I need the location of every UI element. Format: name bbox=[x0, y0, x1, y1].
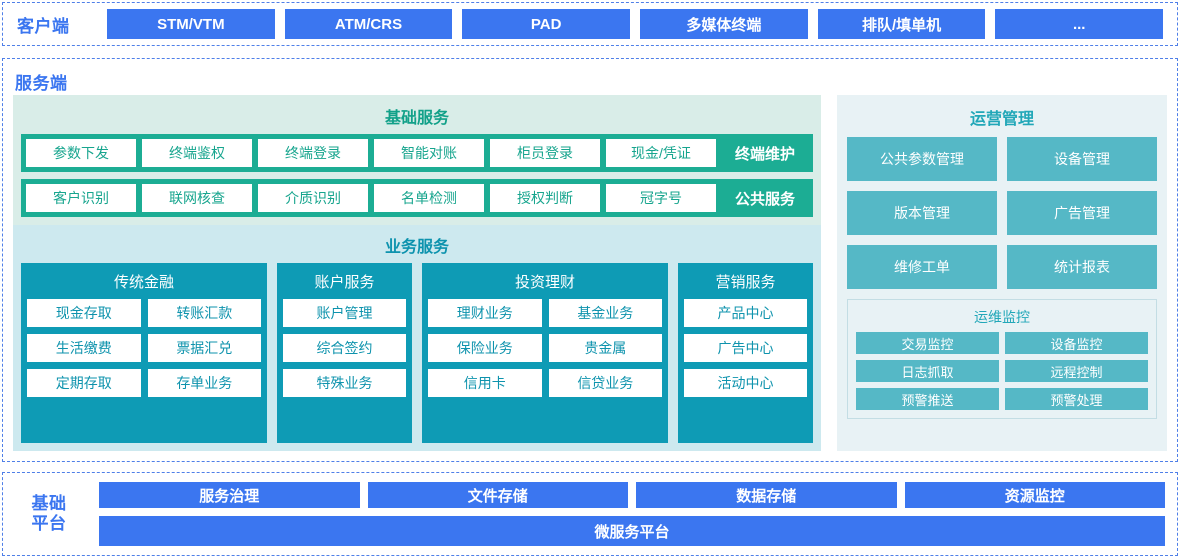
operations-monitoring-title: 运维监控 bbox=[856, 305, 1148, 332]
ops-chip-statistical-report[interactable]: 统计报表 bbox=[1007, 245, 1157, 289]
platform-items-row: 服务治理 文件存储 数据存储 资源监控 bbox=[99, 482, 1165, 508]
ops-chip-public-parameter-management[interactable]: 公共参数管理 bbox=[847, 137, 997, 181]
server-section-title: 服务端 bbox=[15, 69, 68, 94]
biz-chip-special-business[interactable]: 特殊业务 bbox=[283, 369, 406, 397]
business-column-account-services: 账户服务 账户管理 综合签约 特殊业务 bbox=[277, 263, 412, 443]
platform-item-data-storage[interactable]: 数据存储 bbox=[636, 482, 897, 508]
basic-chip-customer-identification[interactable]: 客户识别 bbox=[26, 184, 136, 212]
client-item-multimedia-terminal[interactable]: 多媒体终端 bbox=[640, 9, 808, 39]
mon-chip-log-capture[interactable]: 日志抓取 bbox=[856, 360, 999, 382]
client-item-more[interactable]: ... bbox=[995, 9, 1163, 39]
business-services-panel: 业务服务 传统金融 现金存取 转账汇款 生活缴费 票据汇兑 定期存取 存单业务 bbox=[13, 225, 821, 451]
basic-chip-smart-reconciliation[interactable]: 智能对账 bbox=[374, 139, 484, 167]
biz-chip-wealth-management[interactable]: 理财业务 bbox=[428, 299, 542, 327]
biz-chip-advertising-center[interactable]: 广告中心 bbox=[684, 334, 807, 362]
mon-chip-transaction-monitoring[interactable]: 交易监控 bbox=[856, 332, 999, 354]
basic-chip-online-verification[interactable]: 联网核查 bbox=[142, 184, 252, 212]
ops-chip-repair-work-order[interactable]: 维修工单 bbox=[847, 245, 997, 289]
basic-chip-teller-login[interactable]: 柜员登录 bbox=[490, 139, 600, 167]
business-column-items-marketing-services: 产品中心 广告中心 活动中心 bbox=[684, 299, 807, 437]
basic-services-panel: 基础服务 参数下发 终端鉴权 终端登录 智能对账 柜员登录 现金/凭证 终端维护… bbox=[13, 95, 821, 225]
business-services-columns: 传统金融 现金存取 转账汇款 生活缴费 票据汇兑 定期存取 存单业务 bbox=[21, 263, 813, 443]
operations-management-panel: 运营管理 公共参数管理 设备管理 版本管理 广告管理 维修工单 统计报表 运维监… bbox=[837, 95, 1167, 451]
basic-chip-authorization-judgment[interactable]: 授权判断 bbox=[490, 184, 600, 212]
basic-chip-terminal-auth[interactable]: 终端鉴权 bbox=[142, 139, 252, 167]
business-column-items-account-services: 账户管理 综合签约 特殊业务 bbox=[283, 299, 406, 437]
biz-chip-precious-metals[interactable]: 贵金属 bbox=[549, 334, 663, 362]
server-left-column: 基础服务 参数下发 终端鉴权 终端登录 智能对账 柜员登录 现金/凭证 终端维护… bbox=[13, 95, 821, 451]
basic-services-row-tag-public-service: 公共服务 bbox=[722, 188, 808, 209]
platform-body: 基础 平台 服务治理 文件存储 数据存储 资源监控 微服务平台 bbox=[13, 481, 1165, 547]
ops-chip-advertising-management[interactable]: 广告管理 bbox=[1007, 191, 1157, 235]
server-right-column: 运营管理 公共参数管理 设备管理 版本管理 广告管理 维修工单 统计报表 运维监… bbox=[837, 95, 1167, 451]
platform-item-microservice-platform[interactable]: 微服务平台 bbox=[99, 516, 1165, 546]
client-section-title: 客户端 bbox=[17, 12, 97, 37]
biz-chip-cash-deposit-withdrawal[interactable]: 现金存取 bbox=[27, 299, 141, 327]
platform-items-wrapper: 服务治理 文件存储 数据存储 资源监控 微服务平台 bbox=[99, 482, 1165, 546]
platform-section-title: 基础 平台 bbox=[13, 494, 85, 533]
platform-section: 基础 平台 服务治理 文件存储 数据存储 资源监控 微服务平台 bbox=[2, 472, 1178, 556]
platform-title-line2: 平台 bbox=[13, 514, 85, 534]
server-body: 基础服务 参数下发 终端鉴权 终端登录 智能对账 柜员登录 现金/凭证 终端维护… bbox=[13, 95, 1167, 451]
mon-chip-alert-handling[interactable]: 预警处理 bbox=[1005, 388, 1148, 410]
biz-chip-living-payment[interactable]: 生活缴费 bbox=[27, 334, 141, 362]
basic-services-row-public-service: 客户识别 联网核查 介质识别 名单检测 授权判断 冠字号 公共服务 bbox=[21, 179, 813, 217]
biz-chip-product-center[interactable]: 产品中心 bbox=[684, 299, 807, 327]
biz-chip-fund-business[interactable]: 基金业务 bbox=[549, 299, 663, 327]
client-item-queue-form-machine[interactable]: 排队/填单机 bbox=[818, 9, 986, 39]
biz-chip-comprehensive-signing[interactable]: 综合签约 bbox=[283, 334, 406, 362]
business-column-items-traditional-finance: 现金存取 转账汇款 生活缴费 票据汇兑 定期存取 存单业务 bbox=[27, 299, 261, 437]
mon-chip-remote-control[interactable]: 远程控制 bbox=[1005, 360, 1148, 382]
business-column-traditional-finance: 传统金融 现金存取 转账汇款 生活缴费 票据汇兑 定期存取 存单业务 bbox=[21, 263, 267, 443]
client-section: 客户端 STM/VTM ATM/CRS PAD 多媒体终端 排队/填单机 ... bbox=[2, 2, 1178, 46]
biz-chip-activity-center[interactable]: 活动中心 bbox=[684, 369, 807, 397]
basic-services-title: 基础服务 bbox=[21, 101, 813, 134]
business-column-investment-finance: 投资理财 理财业务 基金业务 保险业务 贵金属 信用卡 信贷业务 bbox=[422, 263, 668, 443]
client-row: 客户端 STM/VTM ATM/CRS PAD 多媒体终端 排队/填单机 ... bbox=[3, 3, 1177, 45]
client-item-stm-vtm[interactable]: STM/VTM bbox=[107, 9, 275, 39]
architecture-diagram: 客户端 STM/VTM ATM/CRS PAD 多媒体终端 排队/填单机 ...… bbox=[0, 0, 1180, 560]
basic-services-row-terminal-maintenance: 参数下发 终端鉴权 终端登录 智能对账 柜员登录 现金/凭证 终端维护 bbox=[21, 134, 813, 172]
business-column-marketing-services: 营销服务 产品中心 广告中心 活动中心 bbox=[678, 263, 813, 443]
client-item-pad[interactable]: PAD bbox=[462, 9, 630, 39]
mon-chip-device-monitoring[interactable]: 设备监控 bbox=[1005, 332, 1148, 354]
biz-chip-bill-exchange[interactable]: 票据汇兑 bbox=[148, 334, 262, 362]
operations-monitoring-box: 运维监控 交易监控 设备监控 日志抓取 远程控制 预警推送 预警处理 bbox=[847, 299, 1157, 419]
basic-chip-param-delivery[interactable]: 参数下发 bbox=[26, 139, 136, 167]
operations-items: 公共参数管理 设备管理 版本管理 广告管理 维修工单 统计报表 bbox=[847, 137, 1157, 289]
basic-chip-media-recognition[interactable]: 介质识别 bbox=[258, 184, 368, 212]
business-column-title-investment-finance: 投资理财 bbox=[428, 269, 662, 299]
client-item-atm-crs[interactable]: ATM/CRS bbox=[285, 9, 453, 39]
business-column-title-marketing-services: 营销服务 bbox=[684, 269, 807, 299]
ops-chip-version-management[interactable]: 版本管理 bbox=[847, 191, 997, 235]
business-column-title-account-services: 账户服务 bbox=[283, 269, 406, 299]
business-column-title-traditional-finance: 传统金融 bbox=[27, 269, 261, 299]
biz-chip-insurance-business[interactable]: 保险业务 bbox=[428, 334, 542, 362]
basic-services-row-tag-terminal-maintenance: 终端维护 bbox=[722, 143, 808, 164]
basic-chip-list-detection[interactable]: 名单检测 bbox=[374, 184, 484, 212]
platform-item-file-storage[interactable]: 文件存储 bbox=[368, 482, 629, 508]
basic-chip-serial-number[interactable]: 冠字号 bbox=[606, 184, 716, 212]
operations-management-title: 运营管理 bbox=[847, 103, 1157, 137]
business-column-items-investment-finance: 理财业务 基金业务 保险业务 贵金属 信用卡 信贷业务 bbox=[428, 299, 662, 437]
business-services-title: 业务服务 bbox=[21, 229, 813, 263]
biz-chip-account-management[interactable]: 账户管理 bbox=[283, 299, 406, 327]
server-section: 服务端 基础服务 参数下发 终端鉴权 终端登录 智能对账 柜员登录 现金/凭证 … bbox=[2, 58, 1178, 462]
basic-chip-cash-voucher[interactable]: 现金/凭证 bbox=[606, 139, 716, 167]
basic-chip-terminal-login[interactable]: 终端登录 bbox=[258, 139, 368, 167]
operations-monitoring-items: 交易监控 设备监控 日志抓取 远程控制 预警推送 预警处理 bbox=[856, 332, 1148, 410]
platform-title-line1: 基础 bbox=[13, 494, 85, 514]
biz-chip-credit-card[interactable]: 信用卡 bbox=[428, 369, 542, 397]
biz-chip-time-deposit[interactable]: 定期存取 bbox=[27, 369, 141, 397]
biz-chip-credit-business[interactable]: 信贷业务 bbox=[549, 369, 663, 397]
ops-chip-device-management[interactable]: 设备管理 bbox=[1007, 137, 1157, 181]
mon-chip-alert-push[interactable]: 预警推送 bbox=[856, 388, 999, 410]
platform-item-service-governance[interactable]: 服务治理 bbox=[99, 482, 360, 508]
biz-chip-certificate-deposit[interactable]: 存单业务 bbox=[148, 369, 262, 397]
biz-chip-transfer-remittance[interactable]: 转账汇款 bbox=[148, 299, 262, 327]
platform-item-resource-monitoring[interactable]: 资源监控 bbox=[905, 482, 1166, 508]
